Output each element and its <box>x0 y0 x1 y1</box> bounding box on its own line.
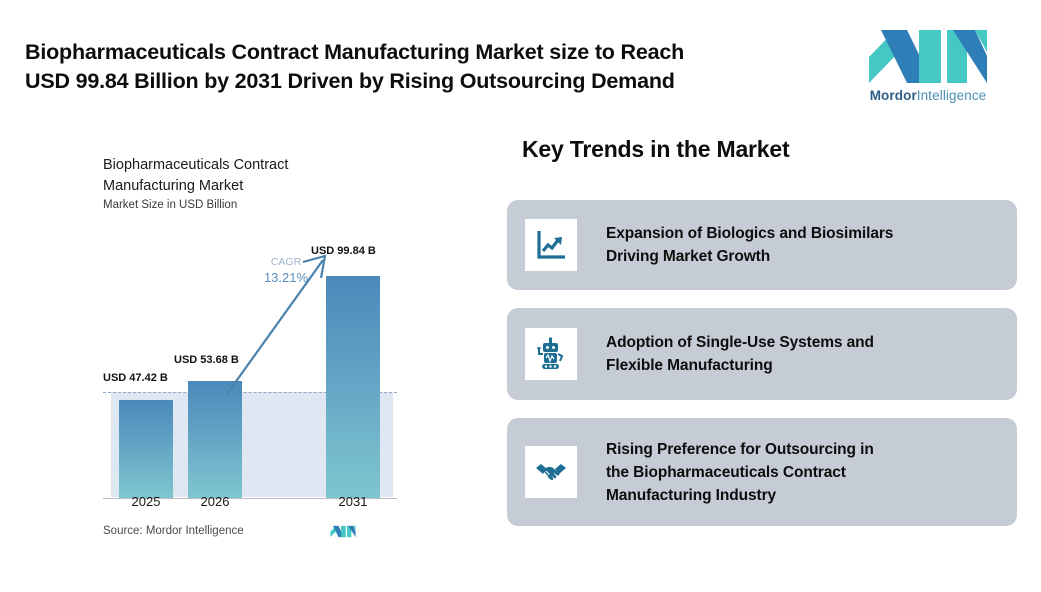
trend-text-line1: Expansion of Biologics and Biosimilars <box>606 225 893 242</box>
x-axis-tick-2025: 2025 <box>116 494 176 509</box>
trend-text-line1: Rising Preference for Outsourcing in <box>606 441 874 458</box>
trends-card-list: Expansion of Biologics and Biosimilars D… <box>507 200 1017 544</box>
growth-chart-icon <box>525 219 577 271</box>
brand-logo-wordmark: MordorIntelligence <box>838 88 1018 103</box>
brand-logo: MordorIntelligence <box>838 30 1018 103</box>
trend-card-text: Adoption of Single-Use Systems and Flexi… <box>606 331 874 377</box>
source-logo-icon <box>330 524 356 539</box>
infographic-page: Biopharmaceuticals Contract Manufacturin… <box>0 0 1041 592</box>
trends-heading: Key Trends in the Market <box>522 136 789 163</box>
trend-text-line2: the Biopharmaceuticals Contract <box>606 464 846 481</box>
trend-card-biologics[interactable]: Expansion of Biologics and Biosimilars D… <box>507 200 1017 290</box>
bar-chart-plot: USD 47.42 B USD 53.68 B USD 99.84 B CAGR… <box>103 240 393 505</box>
trend-card-single-use[interactable]: Adoption of Single-Use Systems and Flexi… <box>507 308 1017 400</box>
growth-arrow-icon <box>223 248 333 398</box>
chart-title: Biopharmaceuticals Contract Manufacturin… <box>103 155 363 197</box>
chart-subtitle: Market Size in USD Billion <box>103 199 363 211</box>
x-axis-labels: 2025 2026 2031 <box>103 494 397 514</box>
brand-name-bold: Mordor <box>870 88 917 103</box>
page-title-line1: Biopharmaceuticals Contract Manufacturin… <box>25 40 684 64</box>
trend-card-outsourcing[interactable]: Rising Preference for Outsourcing in the… <box>507 418 1017 526</box>
mordor-intelligence-logo-icon <box>867 30 989 83</box>
brand-name-light: Intelligence <box>917 88 987 103</box>
trend-text-line2: Driving Market Growth <box>606 248 770 265</box>
trend-text-line2: Flexible Manufacturing <box>606 357 773 374</box>
trend-card-text: Rising Preference for Outsourcing in the… <box>606 438 874 507</box>
bar-2025 <box>119 400 173 498</box>
page-title: Biopharmaceuticals Contract Manufacturin… <box>25 38 825 96</box>
trend-card-text: Expansion of Biologics and Biosimilars D… <box>606 222 893 268</box>
handshake-icon <box>525 446 577 498</box>
x-axis-tick-2031: 2031 <box>323 494 383 509</box>
page-title-line2: USD 99.84 Billion by 2031 Driven by Risi… <box>25 67 825 96</box>
bar-value-label-2025: USD 47.42 B <box>103 372 168 384</box>
trend-text-line3: Manufacturing Industry <box>606 487 776 504</box>
x-axis-tick-2026: 2026 <box>185 494 245 509</box>
bar-2026 <box>188 381 242 498</box>
bar-2031 <box>326 276 380 498</box>
trend-text-line1: Adoption of Single-Use Systems and <box>606 334 874 351</box>
chart-source: Source: Mordor Intelligence <box>103 525 244 537</box>
robot-icon <box>525 328 577 380</box>
